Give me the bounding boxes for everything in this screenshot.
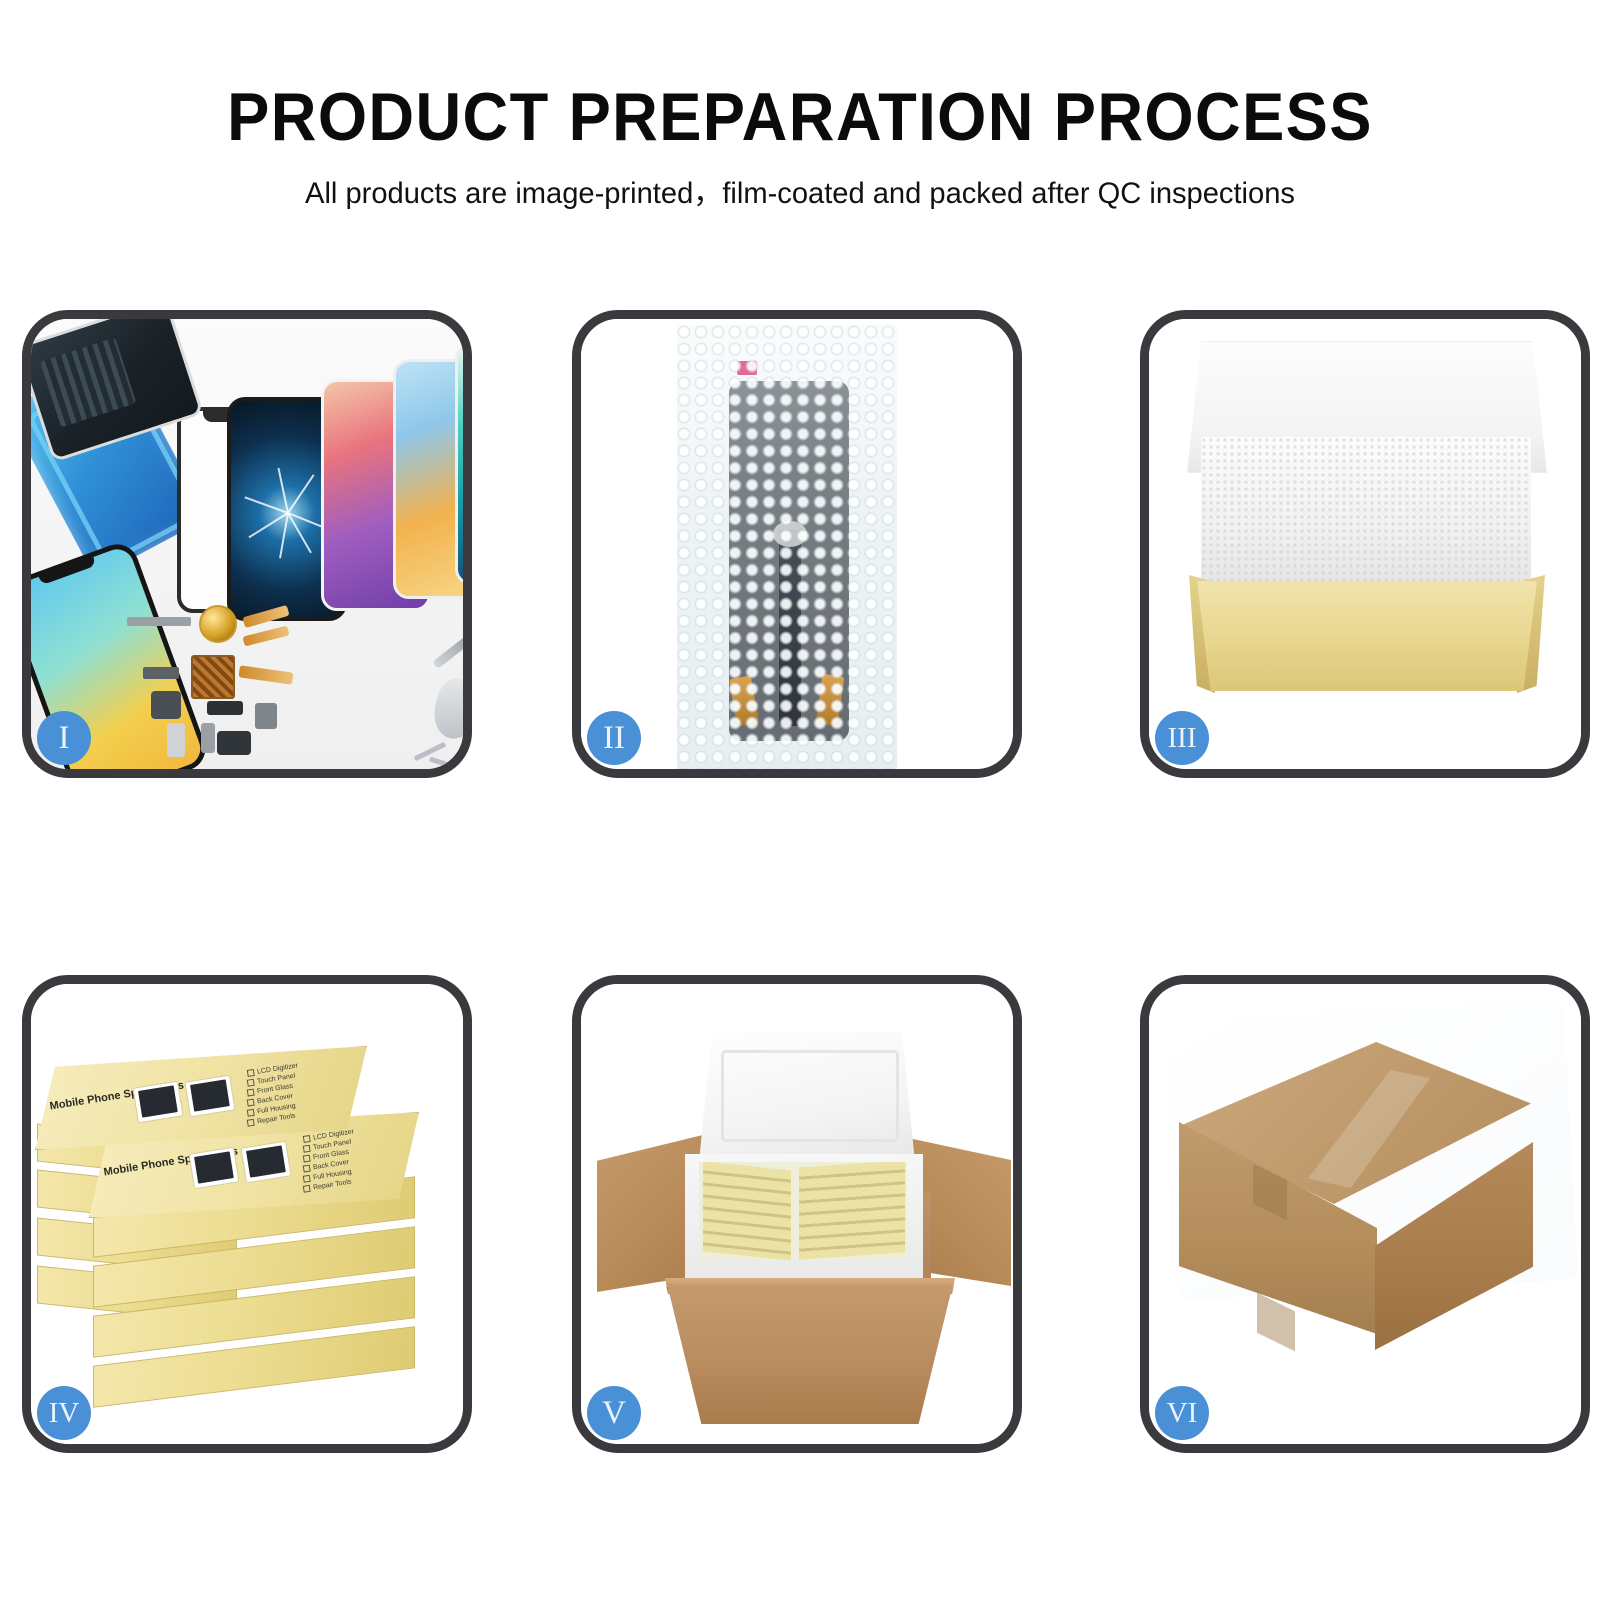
small-part-icon [201,723,215,753]
retail-box-screen-icon-1a [132,1081,183,1124]
step-panel-6[interactable]: VI [1140,975,1590,1453]
step-4-image: Mobile Phone Spare Parts LCD Digitizer T… [31,984,463,1444]
step-5-image [581,984,1013,1444]
foam-sheet-icon [1201,437,1531,597]
step-panel-3[interactable]: III [1140,310,1590,778]
connector-icon-2 [151,691,181,719]
carton-front-wall [667,1284,953,1424]
step-panel-4[interactable]: Mobile Phone Spare Parts LCD Digitizer T… [22,975,472,1453]
step-panel-2[interactable]: II [572,310,1022,778]
gold-box-row-left [703,1162,791,1260]
step-badge-6: VI [1155,1386,1209,1440]
mailer-box-front-icon [1197,581,1537,691]
step-1-image [31,319,463,769]
foam-cooler-interior [699,1162,907,1260]
bubble-wrap-bag-icon [677,325,897,769]
ic-chip-icon [191,655,235,699]
module-icon-1 [207,701,243,715]
sim-tray-icon [167,723,185,757]
retail-box-screen-icon-2b [240,1141,291,1184]
process-step-grid: I II [0,0,1600,1600]
step-3-image [1149,319,1581,769]
retail-box-screen-icon-1b [184,1075,235,1118]
earpiece-speaker-icon [127,617,191,626]
gold-box-row-right [799,1162,905,1260]
step-panel-1[interactable]: I [22,310,472,778]
module-icon-2 [255,703,277,729]
wireless-charge-coil-icon [199,605,237,643]
orange-phone-icon [393,359,463,599]
step-badge-3: III [1155,711,1209,765]
retail-box-screen-icon-2a [188,1147,239,1190]
step-badge-1: I [37,711,91,765]
teal-phone-icon [455,343,463,585]
foam-cooler-lid-icon [699,1032,915,1162]
step-badge-5: V [587,1386,641,1440]
step-6-image [1149,984,1581,1444]
camera-module-icon [217,731,251,755]
connector-icon-1 [143,667,179,679]
step-2-image [581,319,1013,769]
step-badge-4: IV [37,1386,91,1440]
bubble-texture [677,325,897,769]
step-panel-5[interactable]: V [572,975,1022,1453]
step-badge-2: II [587,711,641,765]
